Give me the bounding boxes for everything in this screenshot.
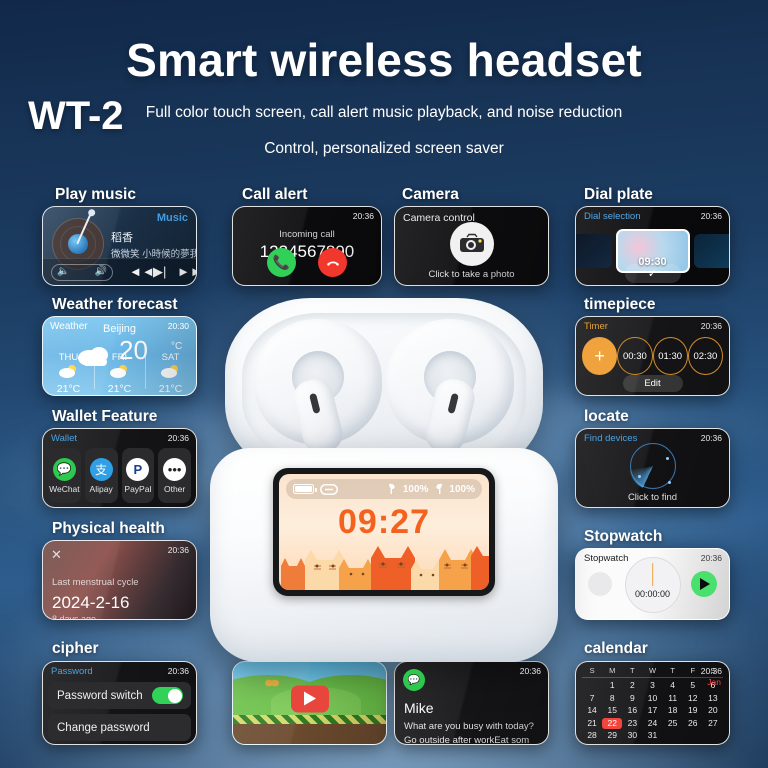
right-earbud-icon xyxy=(434,483,443,495)
wallet-app-alipay[interactable]: 支 Alipay xyxy=(85,448,118,503)
timer-preset[interactable]: 00:30 xyxy=(617,337,652,375)
label-wallet: Wallet Feature xyxy=(52,408,157,426)
status-time: 20:36 xyxy=(701,666,722,676)
dial-selection-title: Dial selection xyxy=(584,211,641,222)
wallet-app-label: Other xyxy=(164,484,185,494)
calendar-day[interactable]: 2 xyxy=(622,680,642,692)
close-icon[interactable]: ✕ xyxy=(51,547,62,563)
label-dial-plate: Dial plate xyxy=(584,186,653,204)
message-line-1: What are you busy with today? xyxy=(404,721,534,732)
calendar-day[interactable]: 7 xyxy=(582,693,602,705)
card-locate[interactable]: Find devices 20:36 Click to find xyxy=(575,428,730,508)
timer-edit-button[interactable]: Edit xyxy=(623,375,683,392)
calendar-day[interactable]: 17 xyxy=(642,705,662,717)
calendar-day[interactable]: 13 xyxy=(703,693,723,705)
right-bud-battery: 100% xyxy=(449,484,475,495)
case-clock: 09:27 xyxy=(279,503,489,542)
calendar-day-empty xyxy=(683,730,703,742)
calendar-weekday: M xyxy=(602,666,622,675)
music-controls: 🔈 🔊 ◄◄ ▶| ►► xyxy=(43,258,196,285)
label-timepiece: timepiece xyxy=(584,296,656,314)
hangup-icon xyxy=(325,255,341,271)
calendar-day[interactable]: 31 xyxy=(642,730,662,742)
status-time: 20:36 xyxy=(701,433,722,443)
incoming-call-label: Incoming call xyxy=(233,229,381,240)
label-weather: Weather forecast xyxy=(52,296,177,314)
subtitle-line-1: Full color touch screen, call alert musi… xyxy=(0,104,768,122)
health-elapsed: 8 days ago xyxy=(52,614,96,620)
radar-icon xyxy=(622,435,684,497)
header: Smart wireless headset WT-2 Full color t… xyxy=(0,0,768,178)
calendar-day[interactable]: 27 xyxy=(703,718,723,730)
calendar-day[interactable]: 21 xyxy=(582,718,602,730)
dial-confirm-button[interactable]: ✓ xyxy=(625,264,681,283)
dial-thumbnail-left[interactable] xyxy=(575,234,612,268)
stopwatch-dial: 00:00:00 xyxy=(625,557,681,613)
change-password-row[interactable]: Change password xyxy=(48,714,191,741)
calendar-day[interactable]: 8 xyxy=(602,693,622,705)
card-calendar[interactable]: 20:36 Jan SMTWTFS 1234567891011121314151… xyxy=(575,661,730,745)
wallet-title: Wallet xyxy=(51,433,77,444)
alipay-icon: 支 xyxy=(90,458,113,481)
cat-wallpaper xyxy=(279,536,489,590)
subtitle-line-2: Control, personalized screen saver xyxy=(0,140,768,158)
product-poster: Smart wireless headset WT-2 Full color t… xyxy=(0,0,768,768)
calendar-day[interactable]: 10 xyxy=(642,693,662,705)
caller-number: 1234567890 xyxy=(233,242,381,262)
forecast-day: FRI 21°C xyxy=(94,351,145,393)
calendar-day[interactable]: 26 xyxy=(683,718,703,730)
label-calendar: calendar xyxy=(584,640,648,658)
card-wallet[interactable]: Wallet 20:36 💬 WeChat 支 Alipay P PayPal … xyxy=(42,428,197,508)
volume-slider[interactable]: 🔈 🔊 xyxy=(51,264,113,281)
calendar-days[interactable]: 1234567891011121314151617181920212223242… xyxy=(582,680,723,742)
card-dial-plate[interactable]: Dial selection 20:36 09:30 ✓ xyxy=(575,206,730,286)
case-display[interactable]: 100% 100% 09:27 xyxy=(273,468,495,596)
forecast-day-temp: 21°C xyxy=(145,383,196,395)
calendar-day[interactable]: 16 xyxy=(622,705,642,717)
status-time: 20:36 xyxy=(520,666,541,676)
partly-cloudy-icon xyxy=(109,364,131,378)
timer-presets: + 00:30 01:30 02:30 xyxy=(582,337,723,375)
left-bud-battery: 100% xyxy=(403,484,429,495)
calendar-day[interactable]: 1 xyxy=(602,680,622,692)
card-puzzle-game[interactable] xyxy=(232,661,387,745)
calendar-day[interactable]: 28 xyxy=(582,730,602,742)
stopwatch-value: 00:00:00 xyxy=(635,589,670,599)
music-badge: Music xyxy=(157,212,188,224)
timer-title: Timer xyxy=(584,321,608,332)
card-message-popup[interactable]: 20:36 💬 Mike What are you busy with toda… xyxy=(394,661,549,745)
calendar-day[interactable]: 11 xyxy=(663,693,683,705)
calendar-day-empty xyxy=(582,680,602,692)
card-timer[interactable]: Timer 20:36 + 00:30 01:30 02:30 Edit xyxy=(575,316,730,396)
card-call-alert[interactable]: 20:36 Incoming call 1234567890 📞 xyxy=(232,206,382,286)
paypal-icon: P xyxy=(126,458,149,481)
label-call-alert: Call alert xyxy=(242,186,307,204)
stopwatch-title: Stopwatch xyxy=(584,553,628,564)
calendar-day[interactable]: 23 xyxy=(622,718,642,730)
game-play-button[interactable] xyxy=(291,685,329,712)
wallet-app-wechat[interactable]: 💬 WeChat xyxy=(48,448,81,503)
accept-call-button[interactable]: 📞 xyxy=(267,248,296,277)
password-switch-label: Password switch xyxy=(57,690,143,702)
card-cipher[interactable]: Password 20:36 Password switch Change pa… xyxy=(42,661,197,745)
calendar-day[interactable]: 3 xyxy=(642,680,662,692)
password-switch-row[interactable]: Password switch xyxy=(48,682,191,709)
forecast-day-name: FRI xyxy=(94,352,145,363)
label-cipher: cipher xyxy=(52,640,99,658)
battery-full-icon xyxy=(293,484,314,494)
calendar-day[interactable]: 5 xyxy=(683,680,703,692)
card-physical-health[interactable]: ✕ 20:36 Last menstrual cycle 2024-2-16 8… xyxy=(42,540,197,620)
cipher-title: Password xyxy=(51,666,93,677)
wallet-app-paypal[interactable]: P PayPal xyxy=(122,448,155,503)
wallet-app-label: Alipay xyxy=(90,484,113,494)
card-play-music[interactable]: Music 稻香 微微笑 小時候的夢我知道 🔈 🔊 ◄◄ ▶| ►► xyxy=(42,206,197,286)
wechat-icon: 💬 xyxy=(53,458,76,481)
calendar-day-empty xyxy=(663,730,683,742)
forecast-day: SAT 21°C xyxy=(145,351,196,393)
status-time: 20:36 xyxy=(168,666,189,676)
link-icon xyxy=(320,484,338,495)
label-camera: Camera xyxy=(402,186,459,204)
calendar-month: Jan xyxy=(707,677,721,687)
fast-forward-icon[interactable]: ►► xyxy=(177,264,197,279)
card-stopwatch[interactable]: Stopwatch 20:36 00:00:00 xyxy=(575,548,730,620)
label-stopwatch: Stopwatch xyxy=(584,528,662,546)
label-health: Physical health xyxy=(52,520,165,538)
calendar-day[interactable]: 12 xyxy=(683,693,703,705)
wallet-apps: 💬 WeChat 支 Alipay P PayPal ••• Other xyxy=(48,448,191,503)
status-time: 20:36 xyxy=(701,553,722,563)
health-caption: Last menstrual cycle xyxy=(52,577,139,588)
message-sender: Mike xyxy=(404,700,434,716)
card-camera[interactable]: Camera control Click to take a photo xyxy=(394,206,549,286)
play-icon xyxy=(699,578,710,590)
camera-shutter-button[interactable] xyxy=(450,222,494,266)
calendar-day[interactable]: 18 xyxy=(663,705,683,717)
forecast-day: THU 21°C xyxy=(43,351,94,393)
timer-add-button[interactable]: + xyxy=(582,337,617,375)
left-earbud-icon xyxy=(388,483,397,495)
partly-cloudy-icon xyxy=(160,364,182,378)
status-time: 20:36 xyxy=(168,545,189,555)
rewind-icon[interactable]: ◄◄ xyxy=(129,264,155,279)
song-title: 稻香 xyxy=(111,229,133,245)
label-locate: locate xyxy=(584,408,629,426)
game-hazard-strip xyxy=(233,715,386,724)
calendar-day[interactable]: 29 xyxy=(602,730,622,742)
stopwatch-lap-button[interactable] xyxy=(588,572,612,596)
butterfly-icon xyxy=(265,678,279,690)
calendar-day[interactable]: 20 xyxy=(703,705,723,717)
stopwatch-start-button[interactable] xyxy=(691,571,717,597)
calendar-day[interactable]: 15 xyxy=(602,705,622,717)
status-time: 20:30 xyxy=(168,321,189,331)
weather-city: Beijing xyxy=(103,323,136,335)
status-time: 20:36 xyxy=(701,211,722,221)
dial-thumbnail-right[interactable] xyxy=(694,234,731,268)
page-title: Smart wireless headset xyxy=(0,33,768,87)
more-dots-icon: ••• xyxy=(163,458,186,481)
forecast-day-temp: 21°C xyxy=(94,383,145,395)
calendar-weekday: S xyxy=(582,666,602,675)
password-toggle[interactable] xyxy=(152,687,183,704)
case-lid-inner xyxy=(242,313,526,463)
partly-cloudy-icon xyxy=(58,364,80,378)
calendar-weekday: T xyxy=(663,666,683,675)
calendar-day[interactable]: 9 xyxy=(622,693,642,705)
play-button-icon xyxy=(303,692,316,706)
find-devices-title: Find devices xyxy=(584,433,637,444)
calendar-weekday: W xyxy=(642,666,662,675)
calendar-day[interactable]: 14 xyxy=(582,705,602,717)
card-weather[interactable]: Weather Beijing 20:30 20 °C THU 21°C FRI xyxy=(42,316,197,396)
wechat-icon: 💬 xyxy=(403,669,425,691)
change-password-label: Change password xyxy=(57,722,150,734)
stopwatch-hand xyxy=(652,563,654,587)
health-date: 2024-2-16 xyxy=(52,593,130,613)
calendar-day[interactable]: 30 xyxy=(622,730,642,742)
calendar-grid: SMTWTFS 12345678910111213141516171819202… xyxy=(582,666,723,742)
weather-title: Weather xyxy=(50,321,88,332)
message-line-2: Go outside after workEat som xyxy=(404,735,529,745)
status-time: 20:36 xyxy=(353,211,374,221)
game-ground xyxy=(233,724,386,744)
calendar-day[interactable]: 25 xyxy=(663,718,683,730)
calendar-day[interactable]: 4 xyxy=(663,680,683,692)
wallet-app-label: PayPal xyxy=(124,484,151,494)
timer-preset[interactable]: 01:30 xyxy=(653,337,688,375)
wallet-app-other[interactable]: ••• Other xyxy=(158,448,191,503)
camera-hint: Click to take a photo xyxy=(395,269,548,280)
play-pause-icon[interactable]: ▶| xyxy=(153,264,166,280)
weather-forecast-row: THU 21°C FRI 21°C SAT 21°C xyxy=(43,351,196,393)
timer-preset[interactable]: 02:30 xyxy=(688,337,723,375)
calendar-day[interactable]: 22 xyxy=(602,718,622,730)
wallet-app-label: WeChat xyxy=(49,484,80,494)
calendar-day[interactable]: 24 xyxy=(642,718,662,730)
forecast-day-name: THU xyxy=(43,352,94,363)
forecast-day-temp: 21°C xyxy=(43,383,94,395)
case-display-inner: 100% 100% 09:27 xyxy=(279,474,489,590)
case-status-bar: 100% 100% xyxy=(286,479,482,499)
camera-icon xyxy=(458,233,486,255)
forecast-day-name: SAT xyxy=(145,352,196,363)
earbuds-case-body: 100% 100% 09:27 xyxy=(210,448,558,662)
status-time: 20:36 xyxy=(168,433,189,443)
calendar-day-empty xyxy=(703,730,723,742)
calendar-day[interactable]: 19 xyxy=(683,705,703,717)
reject-call-button[interactable] xyxy=(318,248,347,277)
status-time: 20:36 xyxy=(701,321,722,331)
calendar-weekday: T xyxy=(622,666,642,675)
label-play-music: Play music xyxy=(55,186,136,204)
